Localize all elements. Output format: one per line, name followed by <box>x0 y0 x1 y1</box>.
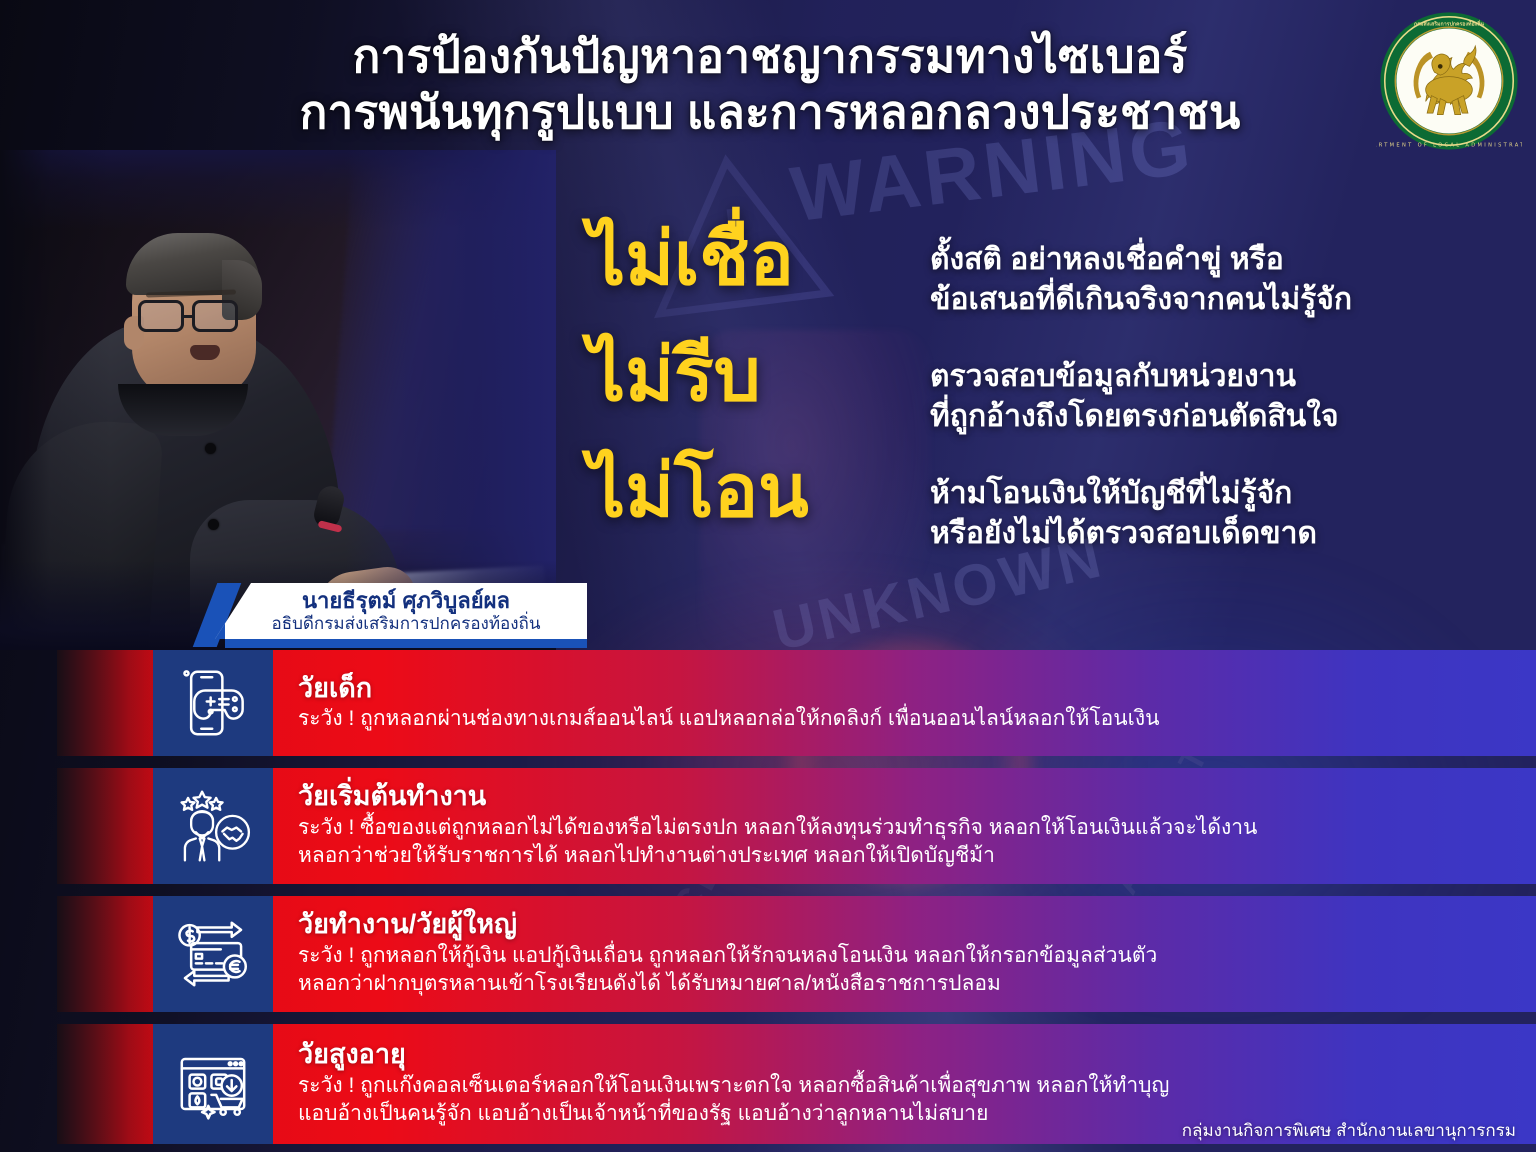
speaker-nameplate: นายธีรุตม์ ศุภวิบูลย์ผล อธิบดีกรมส่งเสริ… <box>215 583 587 639</box>
age-group-description: ระวัง ! ถูกหลอกให้กู้เงิน แอปกู้เงินเถื่… <box>298 942 1496 999</box>
phone-game-controller-icon <box>153 650 273 756</box>
slogan-detail-3-line-1: ห้ามโอนเงินให้บัญชีที่ไม่รู้จัก <box>930 474 1470 514</box>
age-group-title: วัยเริ่มต้นทำงาน <box>298 781 1496 811</box>
title-line-2: การพนันทุกรูปแบบ และการหลอกลวงประชาชน <box>170 84 1370 140</box>
age-group-title: วัยสูงอายุ <box>298 1039 1496 1069</box>
slogan-detail-2: ตรวจสอบข้อมูลกับหน่วยงาน ที่ถูกอ้างถึงโด… <box>930 357 1470 436</box>
speaker-name: นายธีรุตม์ ศุภวิบูลย์ผล <box>302 589 510 612</box>
slogan-detail-2-line-1: ตรวจสอบข้อมูลกับหน่วยงาน <box>930 357 1470 397</box>
slogan-item-1: ไม่เชื่อ <box>588 222 918 296</box>
speaker-photo <box>0 150 556 650</box>
desc-line-2: หลอกว่าช่วยให้รับราชการได้ หลอกไปทำงานต่… <box>298 842 1496 871</box>
slogan-list: ไม่เชื่อ ไม่รีบ ไม่โอน <box>588 222 918 528</box>
desc-line-1: ระวัง ! ถูกหลอกผ่านช่องทางเกมส์ออนไลน์ แ… <box>298 705 1496 734</box>
slogan-detail-1-line-1: ตั้งสติ อย่าหลงเชื่อคำขู่ หรือ <box>930 240 1470 280</box>
businessman-stars-handshake-icon <box>153 768 273 884</box>
slogan-details-list: ตั้งสติ อย่าหลงเชื่อคำขู่ หรือ ข้อเสนอที… <box>930 240 1470 592</box>
title-line-1: การป้องกันปัญหาอาชญากรรมทางไซเบอร์ <box>352 30 1187 82</box>
age-group-row-working-adult: วัยทำงาน/วัยผู้ใหญ่ ระวัง ! ถูกหลอกให้กู… <box>0 896 1536 1012</box>
page-title: การป้องกันปัญหาอาชญากรรมทางไซเบอร์ การพน… <box>170 28 1370 140</box>
slogan-detail-3: ห้ามโอนเงินให้บัญชีที่ไม่รู้จัก หรือยังไ… <box>930 474 1470 553</box>
online-shopping-cart-icon <box>153 1024 273 1144</box>
slogan-detail-3-line-2: หรือยังไม่ได้ตรวจสอบเด็ดขาด <box>930 514 1470 554</box>
row-text-block: วัยเริ่มต้นทำงาน ระวัง ! ซื้อของแต่ถูกหล… <box>298 768 1496 884</box>
nameplate-underbar <box>225 639 587 648</box>
row-text-block: วัยทำงาน/วัยผู้ใหญ่ ระวัง ! ถูกหลอกให้กู… <box>298 896 1496 1012</box>
row-text-block: วัยเด็ก ระวัง ! ถูกหลอกผ่านช่องทางเกมส์อ… <box>298 650 1496 756</box>
age-group-row-child: วัยเด็ก ระวัง ! ถูกหลอกผ่านช่องทางเกมส์อ… <box>0 650 1536 756</box>
age-group-title: วัยทำงาน/วัยผู้ใหญ่ <box>298 909 1496 939</box>
speaker-role: อธิบดีกรมส่งเสริมการปกครองท้องถิ่น <box>272 614 541 634</box>
desc-line-1: ระวัง ! ถูกหลอกให้กู้เงิน แอปกู้เงินเถื่… <box>298 942 1496 971</box>
desc-line-1: ระวัง ! ถูกแก๊งคอลเซ็นเตอร์หลอกให้โอนเงิ… <box>298 1072 1496 1101</box>
age-group-list: วัยเด็ก ระวัง ! ถูกหลอกผ่านช่องทางเกมส์อ… <box>0 650 1536 1152</box>
desc-line-2: หลอกว่าฝากบุตรหลานเข้าโรงเรียนดังได้ ได้… <box>298 970 1496 999</box>
money-transfer-card-icon <box>153 896 273 1012</box>
slogan-item-2: ไม่รีบ <box>588 338 918 412</box>
slogan-detail-1-line-2: ข้อเสนอที่ดีเกินจริงจากคนไม่รู้จัก <box>930 280 1470 320</box>
age-group-description: ระวัง ! ซื้อของแต่ถูกหลอกไม่ได้ของหรือไม… <box>298 814 1496 871</box>
age-group-description: ระวัง ! ถูกหลอกผ่านช่องทางเกมส์ออนไลน์ แ… <box>298 705 1496 734</box>
svg-text:กรมส่งเสริมการปกครองท้องถิ่น: กรมส่งเสริมการปกครองท้องถิ่น <box>1414 20 1484 28</box>
footer-credit: กลุ่มงานกิจการพิเศษ สำนักงานเลขานุการกรม <box>1182 1117 1516 1144</box>
svg-text:DEPARTMENT OF LOCAL ADMINISTRA: DEPARTMENT OF LOCAL ADMINISTRATION <box>1376 143 1522 149</box>
poster-root: WARNING UNKNOWN Decline Accept <box>0 0 1536 1152</box>
age-group-row-early-career: วัยเริ่มต้นทำงาน ระวัง ! ซื้อของแต่ถูกหล… <box>0 768 1536 884</box>
age-group-title: วัยเด็ก <box>298 673 1496 703</box>
slogan-detail-1: ตั้งสติ อย่าหลงเชื่อคำขู่ หรือ ข้อเสนอที… <box>930 240 1470 319</box>
slogan-item-3: ไม่โอน <box>588 454 918 528</box>
slogan-detail-2-line-2: ที่ถูกอ้างถึงโดยตรงก่อนตัดสินใจ <box>930 397 1470 437</box>
desc-line-1: ระวัง ! ซื้อของแต่ถูกหลอกไม่ได้ของหรือไม… <box>298 814 1496 843</box>
dla-seal-logo: กรมส่งเสริมการปกครองท้องถิ่น DEPARTMENT … <box>1376 8 1522 154</box>
